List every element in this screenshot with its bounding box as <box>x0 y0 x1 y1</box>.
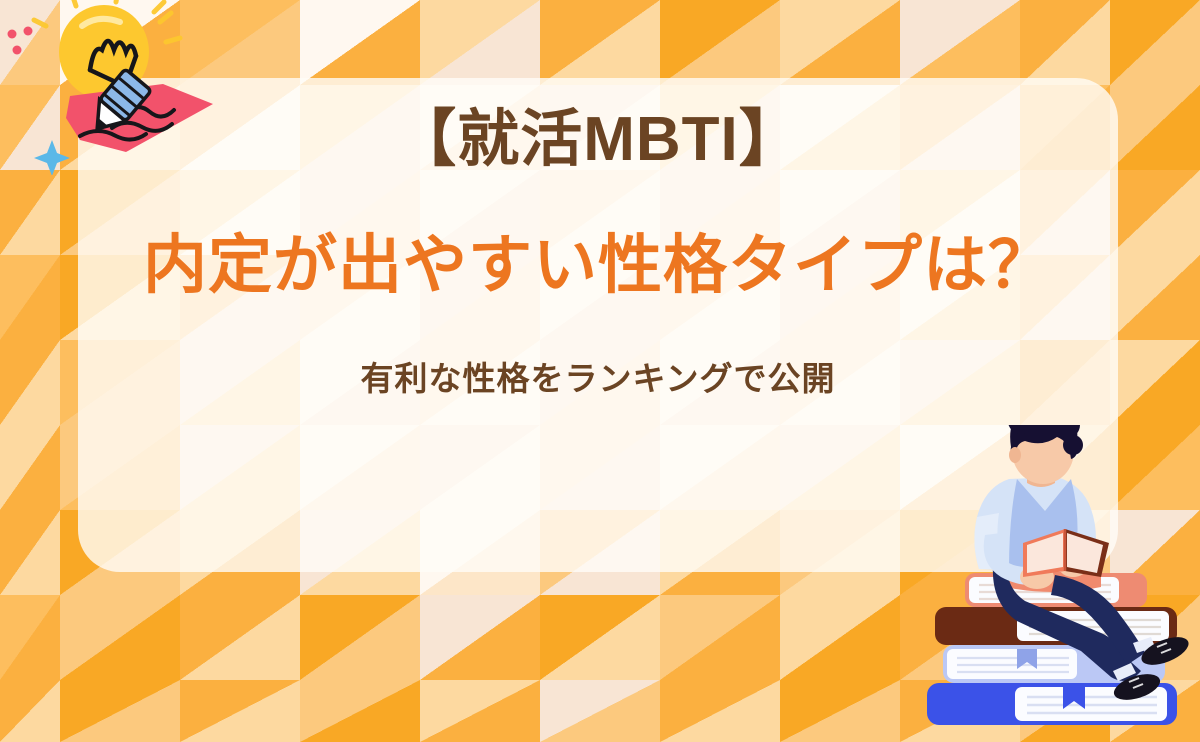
subtitle: 有利な性格をランキングで公開 <box>360 352 835 400</box>
person-reading-illustration <box>905 425 1200 742</box>
banner-stage: 【就活MBTI】 内定が出やすい性格タイプは？ 有利な性格をランキングで公開 <box>0 0 1200 742</box>
lightbulb-pencil-icon <box>8 0 238 175</box>
headline: 内定が出やすい性格タイプは？ <box>143 227 1053 304</box>
page-title: 【就活MBTI】 <box>394 104 802 175</box>
